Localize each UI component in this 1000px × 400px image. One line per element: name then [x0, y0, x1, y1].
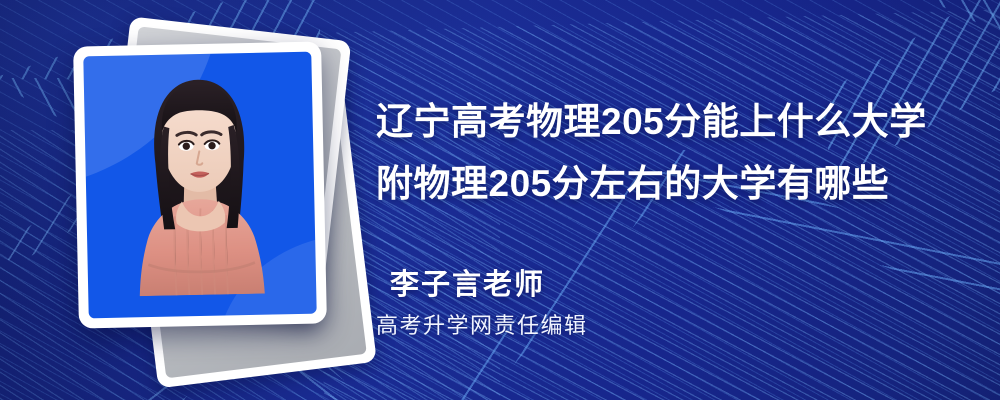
page-title-line-2: 附物理205分左右的大学有哪些 — [376, 153, 976, 215]
author-portrait-illustration — [83, 52, 316, 298]
author-photo-card — [73, 41, 327, 328]
byline: 李子言老师 高考升学网责任编辑 — [390, 270, 950, 338]
banner-text-column: 辽宁高考物理205分能上什么大学 附物理205分左右的大学有哪些 李子言老师 高… — [376, 0, 976, 400]
author-name: 李子言老师 — [390, 270, 950, 302]
article-cover-banner: 辽宁高考物理205分能上什么大学 附物理205分左右的大学有哪些 李子言老师 高… — [0, 0, 1000, 400]
page-title: 辽宁高考物理205分能上什么大学 附物理205分左右的大学有哪些 — [376, 91, 976, 215]
page-title-line-1: 辽宁高考物理205分能上什么大学 — [376, 91, 976, 153]
author-photo-stack — [58, 26, 358, 366]
author-role: 高考升学网责任编辑 — [376, 314, 950, 338]
author-photo — [83, 52, 316, 319]
